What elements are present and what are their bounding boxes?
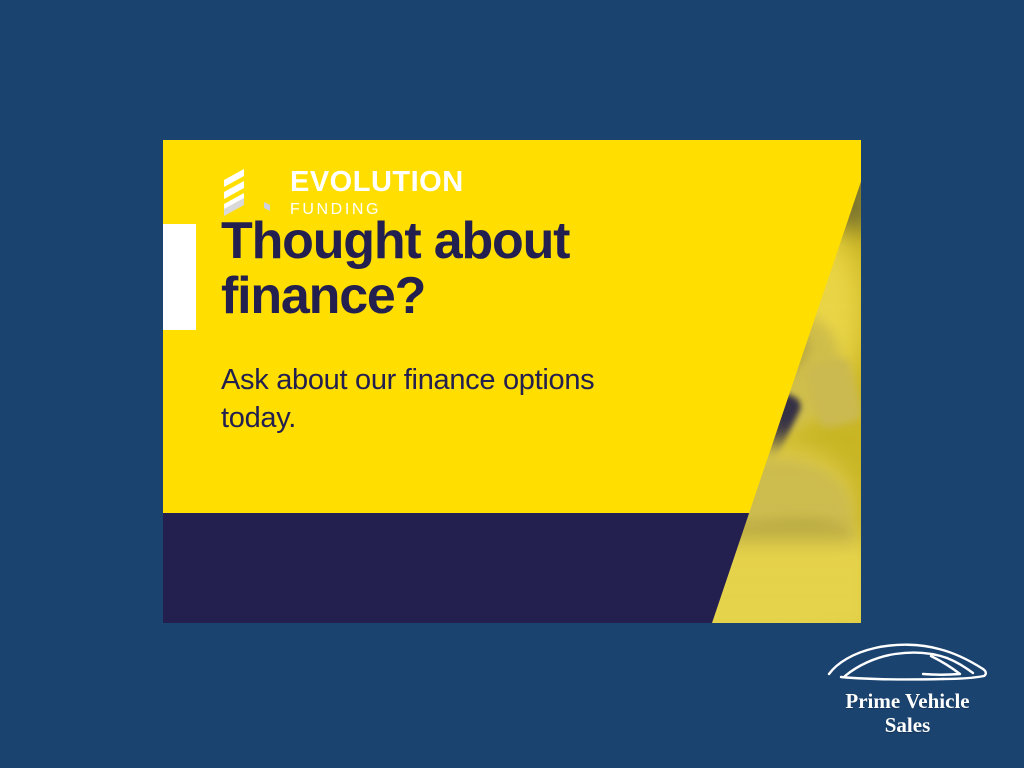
- logo-name: EVOLUTION: [290, 168, 464, 197]
- watermark-text: Prime Vehicle Sales: [815, 690, 1000, 737]
- advert-subheadline: Ask about our finance options today.: [221, 362, 621, 437]
- accent-bar: [163, 224, 196, 330]
- watermark-line-1: Prime Vehicle: [815, 690, 1000, 714]
- advert-headline: Thought about finance?: [221, 214, 651, 324]
- evolution-funding-logo[interactable]: EVOLUTION FUNDING: [220, 162, 464, 224]
- prime-vehicle-sales-watermark: Prime Vehicle Sales: [815, 636, 1000, 736]
- finance-advert-card[interactable]: Thought about finance? Ask about our fin…: [163, 140, 861, 623]
- evolution-funding-wordmark: EVOLUTION FUNDING: [290, 168, 464, 218]
- evolution-cube-icon: [220, 162, 276, 224]
- watermark-line-2: Sales: [815, 714, 1000, 738]
- car-outline-icon: [815, 636, 1000, 688]
- logo-subtitle: FUNDING: [290, 202, 464, 218]
